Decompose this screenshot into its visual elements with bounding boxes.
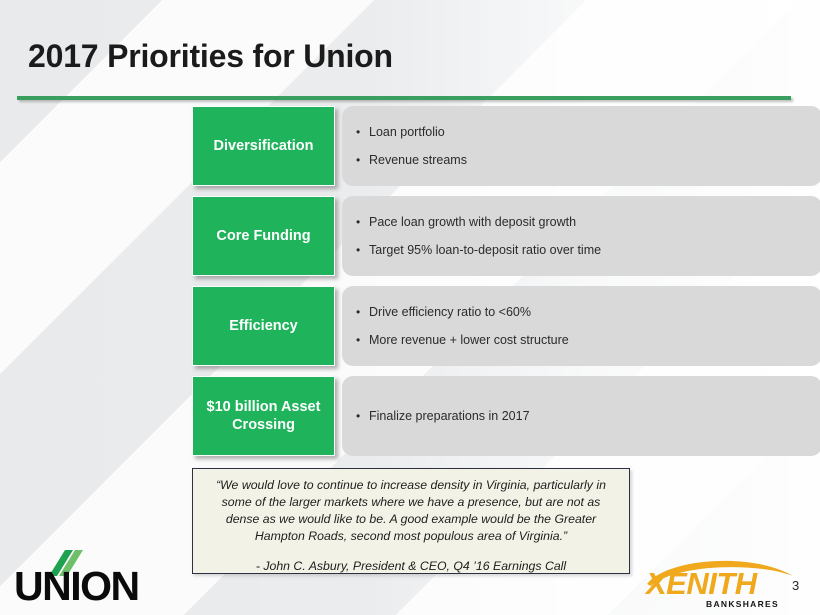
- bullet-icon: •: [356, 305, 369, 319]
- union-wordmark: UNION: [14, 566, 139, 607]
- xenith-logo: XENITH BANKSHARES: [645, 556, 795, 612]
- list-item: • Target 95% loan-to-deposit ratio over …: [356, 243, 806, 258]
- bullet-icon: •: [356, 409, 369, 423]
- xenith-tagline: BANKSHARES: [706, 599, 779, 609]
- page-title: 2017 Priorities for Union: [28, 38, 393, 75]
- list-item: • Revenue streams: [356, 153, 806, 168]
- priority-label-diversification[interactable]: Diversification: [192, 106, 335, 186]
- bullet-icon: •: [356, 125, 369, 139]
- page-number: 3: [792, 578, 799, 593]
- bullet-text: Target 95% loan-to-deposit ratio over ti…: [369, 243, 806, 258]
- priority-label-core-funding[interactable]: Core Funding: [192, 196, 335, 276]
- bullet-icon: •: [356, 243, 369, 257]
- slide: 2017 Priorities for Union Diversificatio…: [0, 0, 820, 615]
- slide-content: 2017 Priorities for Union Diversificatio…: [0, 0, 820, 615]
- bullet-text: Drive efficiency ratio to <60%: [369, 305, 806, 320]
- bullet-icon: •: [356, 215, 369, 229]
- priority-details-core-funding: • Pace loan growth with deposit growth •…: [342, 196, 820, 276]
- bullet-icon: •: [356, 333, 369, 347]
- bullet-text: Revenue streams: [369, 153, 806, 168]
- priority-details-asset-crossing: • Finalize preparations in 2017: [342, 376, 820, 456]
- union-logo: UNION: [14, 548, 184, 610]
- quote-text: “We would love to continue to increase d…: [207, 477, 615, 545]
- quote-callout: “We would love to continue to increase d…: [192, 468, 630, 574]
- bullet-text: Loan portfolio: [369, 125, 806, 140]
- bullet-text: Finalize preparations in 2017: [369, 409, 806, 424]
- xenith-wordmark: XENITH: [646, 568, 757, 599]
- bullet-text: Pace loan growth with deposit growth: [369, 215, 806, 230]
- bullet-icon: •: [356, 153, 369, 167]
- priority-details-efficiency: • Drive efficiency ratio to <60% • More …: [342, 286, 820, 366]
- list-item: • More revenue + lower cost structure: [356, 333, 806, 348]
- priority-label-efficiency[interactable]: Efficiency: [192, 286, 335, 366]
- quote-attribution: - John C. Asbury, President & CEO, Q4 ’1…: [207, 559, 615, 573]
- list-item: • Finalize preparations in 2017: [356, 409, 806, 424]
- priority-label-asset-crossing[interactable]: $10 billion Asset Crossing: [192, 376, 335, 456]
- list-item: • Pace loan growth with deposit growth: [356, 215, 806, 230]
- title-divider: [17, 96, 791, 100]
- bullet-text: More revenue + lower cost structure: [369, 333, 806, 348]
- list-item: • Loan portfolio: [356, 125, 806, 140]
- priority-details-diversification: • Loan portfolio • Revenue streams: [342, 106, 820, 186]
- list-item: • Drive efficiency ratio to <60%: [356, 305, 806, 320]
